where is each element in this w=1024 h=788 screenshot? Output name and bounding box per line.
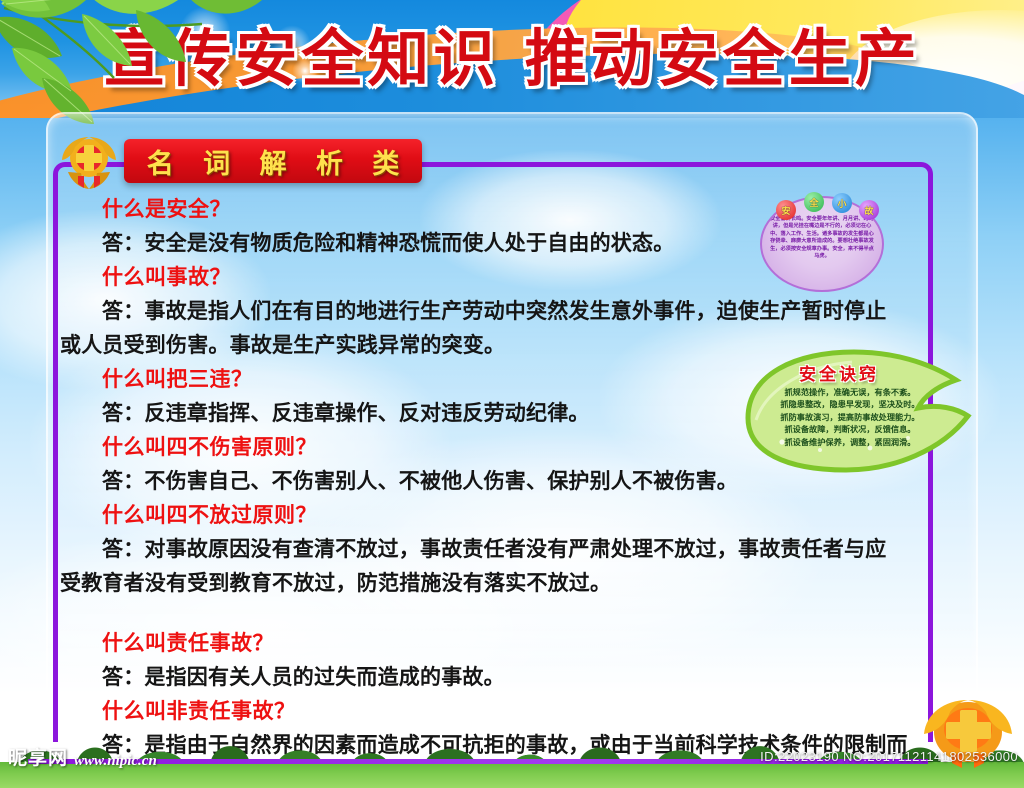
poster-canvas: 宣传安全知识 推动安全生产 bbox=[0, 0, 1024, 788]
poster-title: 宣传安全知识 推动安全生产 bbox=[0, 22, 1024, 96]
answer-text: 答：是指因有关人员的过失而造成的事故。 bbox=[60, 660, 940, 694]
section-label-badge: 名 词 解 析 类 bbox=[124, 139, 422, 183]
leaf-tip-line: 抓隐患整改，隐患早发现，坚决及时。 bbox=[756, 398, 944, 410]
watermark-url: www.nipic.cn bbox=[74, 753, 157, 770]
top-banner: 宣传安全知识 推动安全生产 bbox=[0, 0, 1024, 118]
leaf-tip-line: 抓设备维护保养，调整，紧固润滑。 bbox=[756, 436, 944, 448]
answer-text: 答：对事故原因没有查清不放过，事故责任者没有严肃处理不放过，事故责任者与应 bbox=[60, 532, 940, 566]
leaf-tip-line: 抓防事故演习，提高防事故处理能力。 bbox=[756, 411, 944, 423]
safety-tips-leaf-badge: 安全诀窍 抓规范操作，准确无误，有条不紊。 抓隐患整改，隐患早发现，坚决及时。 … bbox=[742, 346, 988, 476]
safety-gear-cross-emblem-icon bbox=[58, 132, 120, 190]
qa-block: 什么叫四不放过原则？ 答：对事故原因没有查清不放过，事故责任者没有严肃处理不放过… bbox=[60, 498, 940, 600]
image-id-number: ID:22023190 NO:20171121141802536000 bbox=[760, 749, 1018, 764]
badge-bubble-group: 安 全 小 故 bbox=[760, 190, 884, 224]
spacer bbox=[60, 600, 940, 626]
answer-text-cont: 受教育者没有受到教育不放过，防范措施没有落实不放过。 bbox=[60, 566, 940, 600]
answer-text: 答：事故是指人们在有目的地进行生产劳动中突然发生意外事件，迫使生产暂时停止 bbox=[60, 294, 940, 328]
leaf-badge-title: 安全诀窍 bbox=[764, 360, 914, 385]
badge-bubble: 小 bbox=[832, 193, 852, 213]
badge-bubble: 全 bbox=[804, 192, 824, 212]
question-text: 什么叫四不放过原则？ bbox=[60, 498, 940, 532]
badge-bubble: 故 bbox=[859, 200, 879, 220]
section-label-text: 名 词 解 析 类 bbox=[137, 142, 410, 181]
qa-block: 什么叫责任事故？ 答：是指因有关人员的过失而造成的事故。 bbox=[60, 626, 940, 694]
question-text: 什么叫责任事故？ bbox=[60, 626, 940, 660]
leaf-tip-line: 抓规范操作，准确无误，有条不紊。 bbox=[756, 386, 944, 398]
leaf-tip-line: 抓设备故障，判断状况，反馈信息。 bbox=[756, 423, 944, 435]
badge-bubble: 安 bbox=[776, 200, 796, 220]
watermark: 昵享网 www.nipic.cn bbox=[8, 743, 157, 770]
watermark-logo: 昵享网 bbox=[8, 743, 68, 770]
leaf-badge-lines: 抓规范操作，准确无误，有条不紊。 抓隐患整改，隐患早发现，坚决及时。 抓防事故演… bbox=[756, 386, 944, 448]
